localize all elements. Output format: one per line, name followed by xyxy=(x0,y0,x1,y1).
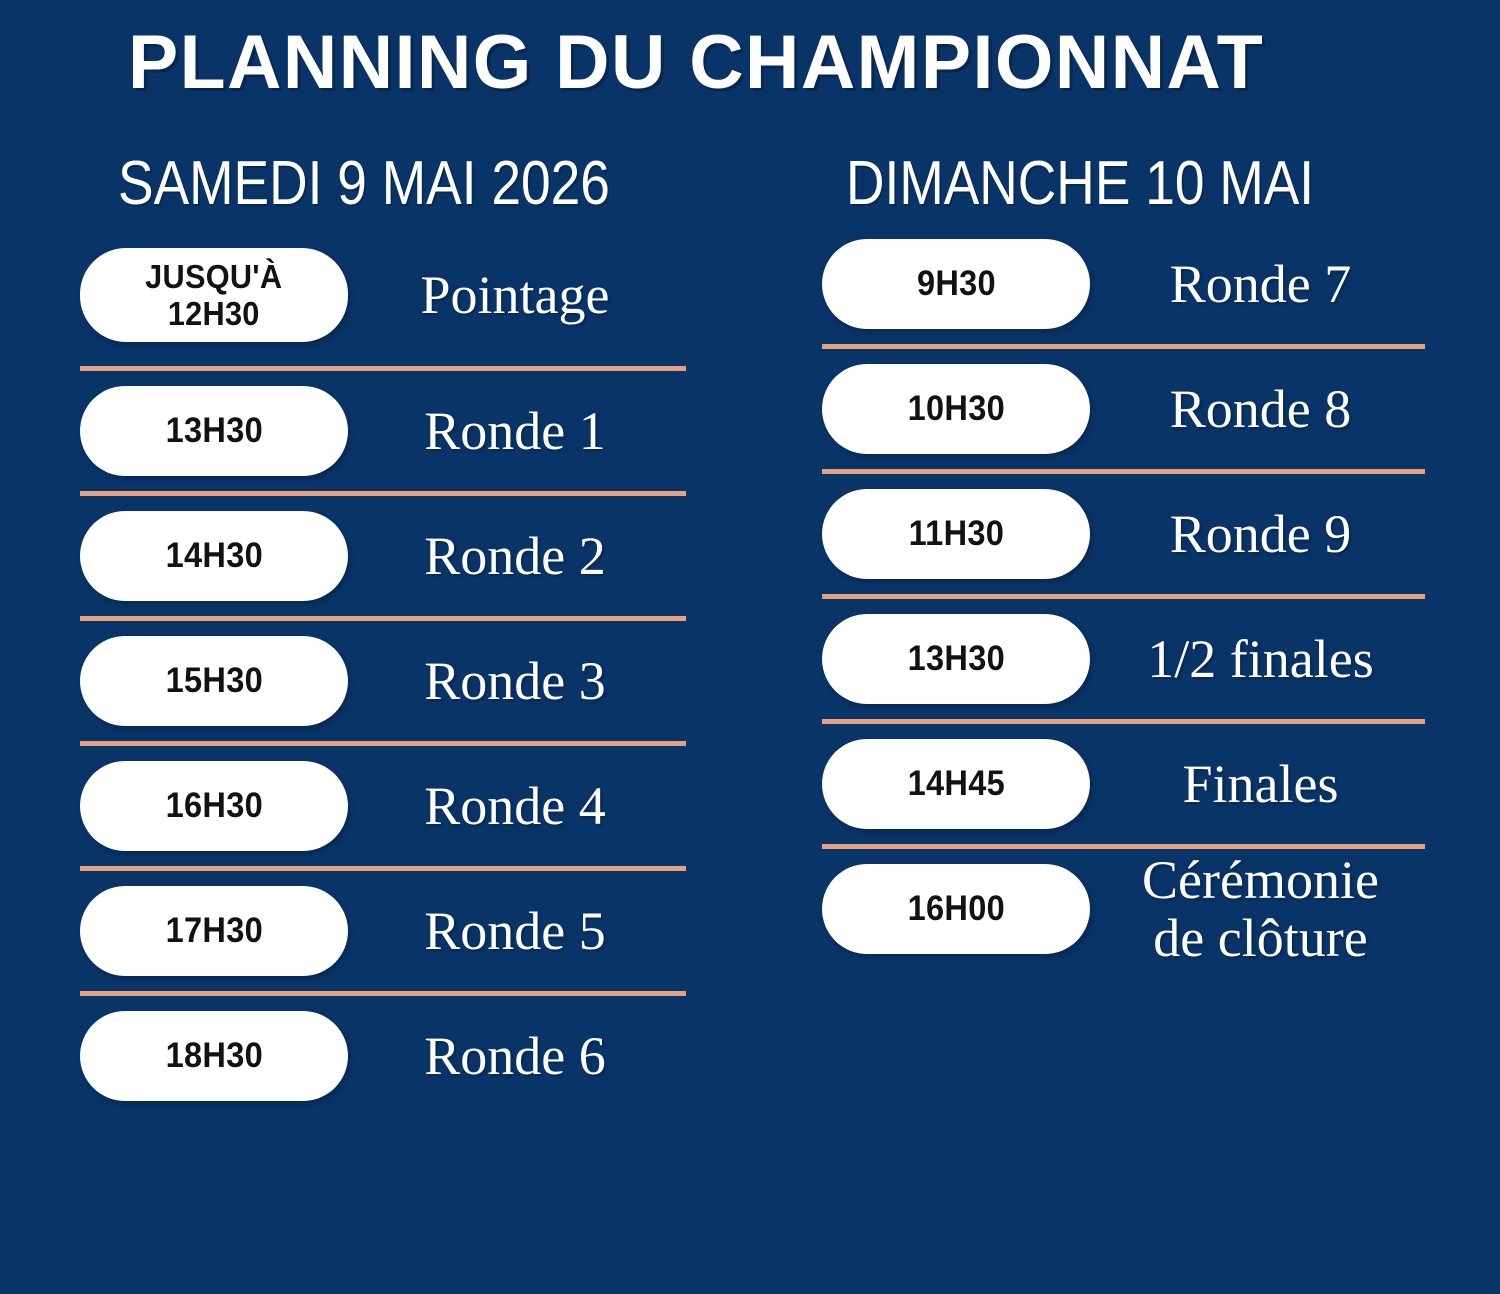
schedule-row: 18H30Ronde 6 xyxy=(80,996,690,1116)
time-label: 13H30 xyxy=(165,411,262,451)
time-label: 18H30 xyxy=(165,1036,262,1076)
schedule-poster: PLANNING DU CHAMPIONNAT SAMEDI 9 MAI 202… xyxy=(0,0,1500,1294)
time-label: 10H30 xyxy=(907,389,1004,429)
page-title: PLANNING DU CHAMPIONNAT xyxy=(128,22,1366,104)
time-pill: 10H30 xyxy=(822,364,1090,454)
event-label: Ronde 2 xyxy=(348,527,690,585)
day-column-saturday: SAMEDI 9 MAI 2026 JUSQU'À 12H30Pointage1… xyxy=(80,148,690,1116)
event-label: Ronde 6 xyxy=(348,1027,690,1085)
time-pill: 11H30 xyxy=(822,489,1090,579)
time-pill: 16H30 xyxy=(80,761,348,851)
time-label: 9H30 xyxy=(917,264,996,304)
event-label: Pointage xyxy=(348,266,690,324)
schedule-row: 15H30Ronde 3 xyxy=(80,621,690,741)
day-header-sunday: DIMANCHE 10 MAI xyxy=(846,148,1346,224)
schedule-row: 14H45Finales xyxy=(822,724,1427,844)
time-pill: 16H00 xyxy=(822,864,1090,954)
time-pill: 17H30 xyxy=(80,886,348,976)
day-column-sunday: DIMANCHE 10 MAI 9H30Ronde 710H30Ronde 81… xyxy=(822,148,1427,969)
time-pill: JUSQU'À 12H30 xyxy=(80,248,348,342)
time-pill: 14H45 xyxy=(822,739,1090,829)
event-label: Ronde 4 xyxy=(348,777,690,835)
event-label: 1/2 finales xyxy=(1090,630,1427,688)
time-pill: 18H30 xyxy=(80,1011,348,1101)
schedule-row: 9H30Ronde 7 xyxy=(822,224,1427,344)
time-label: 11H30 xyxy=(908,514,1004,554)
time-label: 16H30 xyxy=(165,786,262,826)
time-pill: 15H30 xyxy=(80,636,348,726)
schedule-row: 11H30Ronde 9 xyxy=(822,474,1427,594)
event-label: Cérémonie de clôture xyxy=(1090,851,1427,967)
schedule-list-saturday: JUSQU'À 12H30Pointage13H30Ronde 114H30Ro… xyxy=(80,224,690,1116)
event-label: Ronde 7 xyxy=(1090,255,1427,313)
time-pill: 13H30 xyxy=(80,386,348,476)
event-label: Ronde 5 xyxy=(348,902,690,960)
schedule-row: 10H30Ronde 8 xyxy=(822,349,1427,469)
time-pill: 13H30 xyxy=(822,614,1090,704)
schedule-row: JUSQU'À 12H30Pointage xyxy=(80,224,690,366)
schedule-row: 14H30Ronde 2 xyxy=(80,496,690,616)
event-label: Ronde 3 xyxy=(348,652,690,710)
schedule-row: 13H30Ronde 1 xyxy=(80,371,690,491)
time-label: 13H30 xyxy=(907,639,1004,679)
schedule-row: 16H30Ronde 4 xyxy=(80,746,690,866)
time-pill: 9H30 xyxy=(822,239,1090,329)
day-header-saturday: SAMEDI 9 MAI 2026 xyxy=(118,148,610,224)
schedule-row: 16H00Cérémonie de clôture xyxy=(822,849,1427,969)
time-label: 17H30 xyxy=(165,911,262,951)
time-label: JUSQU'À 12H30 xyxy=(145,258,282,332)
time-pill: 14H30 xyxy=(80,511,348,601)
event-label: Ronde 9 xyxy=(1090,505,1427,563)
schedule-list-sunday: 9H30Ronde 710H30Ronde 811H30Ronde 913H30… xyxy=(822,224,1427,969)
schedule-row: 13H301/2 finales xyxy=(822,599,1427,719)
event-label: Ronde 1 xyxy=(348,402,690,460)
event-label: Ronde 8 xyxy=(1090,380,1427,438)
time-label: 16H00 xyxy=(907,889,1004,929)
time-label: 14H45 xyxy=(907,764,1004,804)
time-label: 15H30 xyxy=(165,661,262,701)
time-label: 14H30 xyxy=(165,536,262,576)
event-label: Finales xyxy=(1090,755,1427,813)
schedule-row: 17H30Ronde 5 xyxy=(80,871,690,991)
